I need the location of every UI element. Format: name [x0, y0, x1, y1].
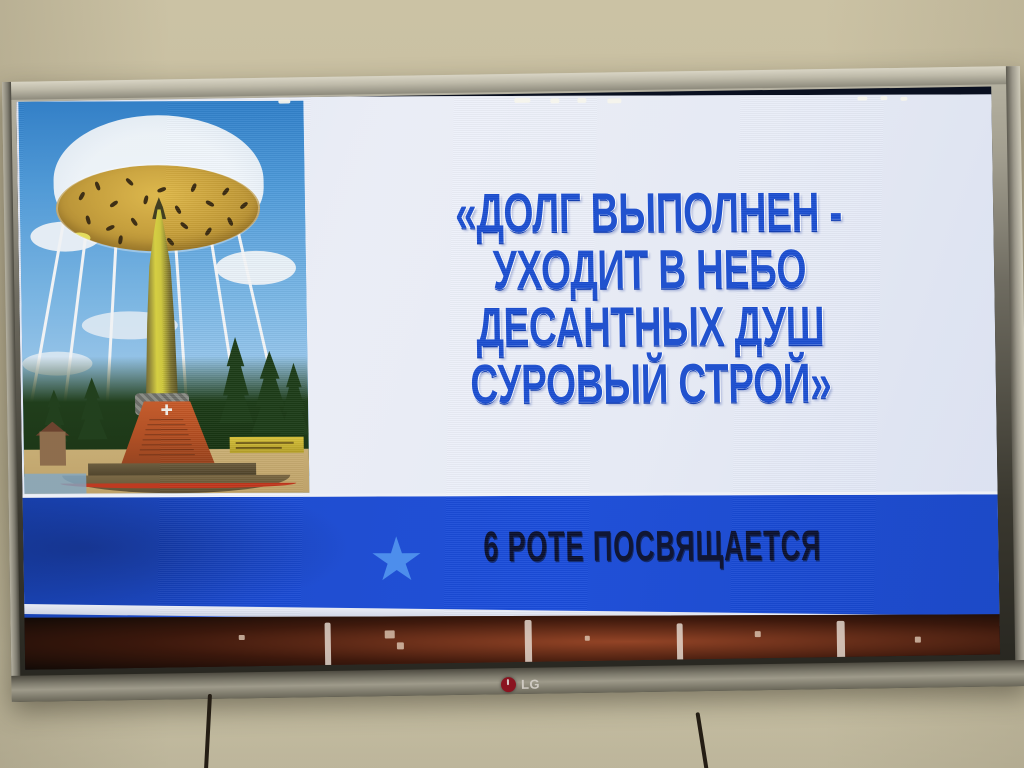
reflection-speck: [915, 637, 921, 643]
reflection-speck: [385, 630, 395, 638]
television[interactable]: «ДОЛГ ВЫПОЛНЕН - УХОДИТ В НЕБО ДЕСАНТНЫХ…: [2, 66, 1024, 702]
sign-line: [236, 442, 294, 444]
lg-brand-logo: LG: [501, 677, 540, 693]
reflection-streak: [325, 623, 332, 667]
plaque-text-line: [145, 429, 187, 430]
reflection-speck: [755, 631, 761, 637]
glare-dot: [550, 98, 559, 103]
glare-dot: [514, 98, 530, 103]
bezel-right: [1006, 66, 1024, 686]
reflection-streak: [525, 620, 533, 666]
slide-banner: 6 РОТЕ ПОСВЯЩАЕТСЯ: [23, 494, 1000, 623]
reflection-speck: [239, 635, 245, 640]
headline-line-1: «ДОЛГ ВЫПОЛНЕН -: [454, 186, 842, 244]
plaque-text-line: [149, 419, 183, 420]
reflection-streak: [677, 623, 684, 665]
glare-dot: [880, 96, 887, 100]
slide-headline: «ДОЛГ ВЫПОЛНЕН - УХОДИТ В НЕБО ДЕСАНТНЫХ…: [316, 104, 982, 494]
reflection-speck: [397, 642, 404, 649]
presentation-slide: «ДОЛГ ВЫПОЛНЕН - УХОДИТ В НЕБО ДЕСАНТНЫХ…: [16, 94, 999, 617]
cloud: [216, 251, 297, 285]
plaque-text-line: [143, 439, 191, 440]
headline-line-4: СУРОВЫЙ СТРОЙ»: [470, 356, 832, 414]
water-pool: [24, 474, 86, 494]
memorial-sign: [230, 437, 304, 453]
banner-dedication-text: 6 РОТЕ ПОСВЯЩАЕТСЯ: [483, 523, 822, 572]
headline-line-3: ДЕСАНТНЫХ ДУШ: [476, 299, 825, 357]
reflection-speck: [585, 636, 590, 641]
plaque-text-line: [147, 424, 185, 425]
glare-dot: [278, 99, 290, 103]
building: [39, 432, 66, 466]
star-icon: [371, 536, 422, 584]
sign-line: [236, 447, 282, 449]
plaque-text-line: [142, 444, 192, 445]
plaque-text-line: [145, 434, 189, 435]
glare-dot: [857, 96, 867, 100]
headline-line-2: УХОДИТ В НЕБО: [492, 242, 806, 299]
monument-photo: [18, 101, 309, 494]
lg-mark-icon: [501, 677, 516, 692]
plaque-text-line: [140, 449, 194, 450]
glare-dot: [607, 98, 621, 103]
lg-brand-label: LG: [521, 677, 540, 692]
tv-screen[interactable]: «ДОЛГ ВЫПОЛНЕН - УХОДИТ В НЕБО ДЕСАНТНЫХ…: [16, 86, 1000, 669]
glare-dot: [900, 97, 907, 101]
glare-dot: [577, 98, 586, 103]
plaque-text-line: [139, 454, 195, 455]
